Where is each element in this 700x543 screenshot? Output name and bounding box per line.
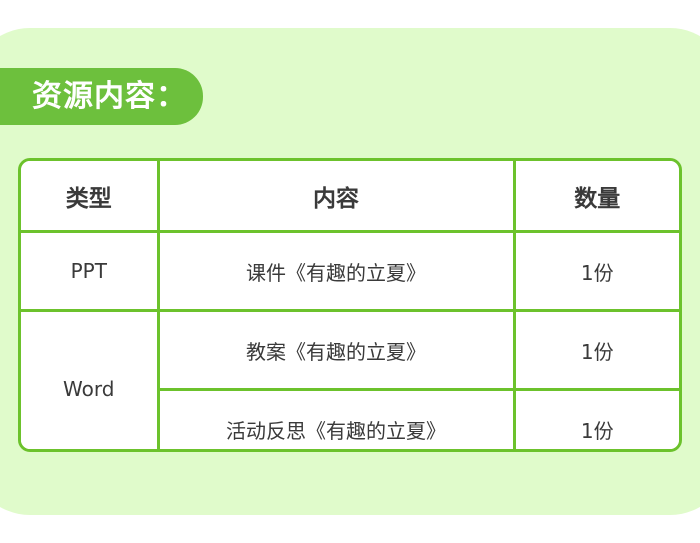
cell-content: 课件《有趣的立夏》 [158, 232, 514, 311]
table-head: 类型 内容 数量 [21, 161, 679, 232]
cell-quantity: 1份 [514, 232, 679, 311]
column-header-content: 内容 [158, 161, 514, 232]
cell-quantity: 1份 [514, 390, 679, 453]
column-header-type: 类型 [21, 161, 158, 232]
screenshot-root: 资源内容： 类型 内容 数量 PPT 课件《有趣的立夏》 1份 [0, 0, 700, 543]
table-row: PPT 课件《有趣的立夏》 1份 [21, 232, 679, 311]
cell-quantity: 1份 [514, 311, 679, 390]
resource-table-grid: 类型 内容 数量 PPT 课件《有趣的立夏》 1份 Word 教案《有趣的立夏》… [21, 161, 679, 452]
section-badge-label: 资源内容： [32, 82, 187, 112]
cell-type: Word [21, 311, 158, 453]
cell-content: 教案《有趣的立夏》 [158, 311, 514, 390]
table-header-row: 类型 内容 数量 [21, 161, 679, 232]
table-row: Word 教案《有趣的立夏》 1份 [21, 311, 679, 390]
column-header-quantity: 数量 [514, 161, 679, 232]
section-badge: 资源内容： [0, 68, 203, 125]
cell-content: 活动反思《有趣的立夏》 [158, 390, 514, 453]
resource-table: 类型 内容 数量 PPT 课件《有趣的立夏》 1份 Word 教案《有趣的立夏》… [18, 158, 682, 452]
table-body: PPT 课件《有趣的立夏》 1份 Word 教案《有趣的立夏》 1份 活动反思《… [21, 232, 679, 453]
cell-type: PPT [21, 232, 158, 311]
